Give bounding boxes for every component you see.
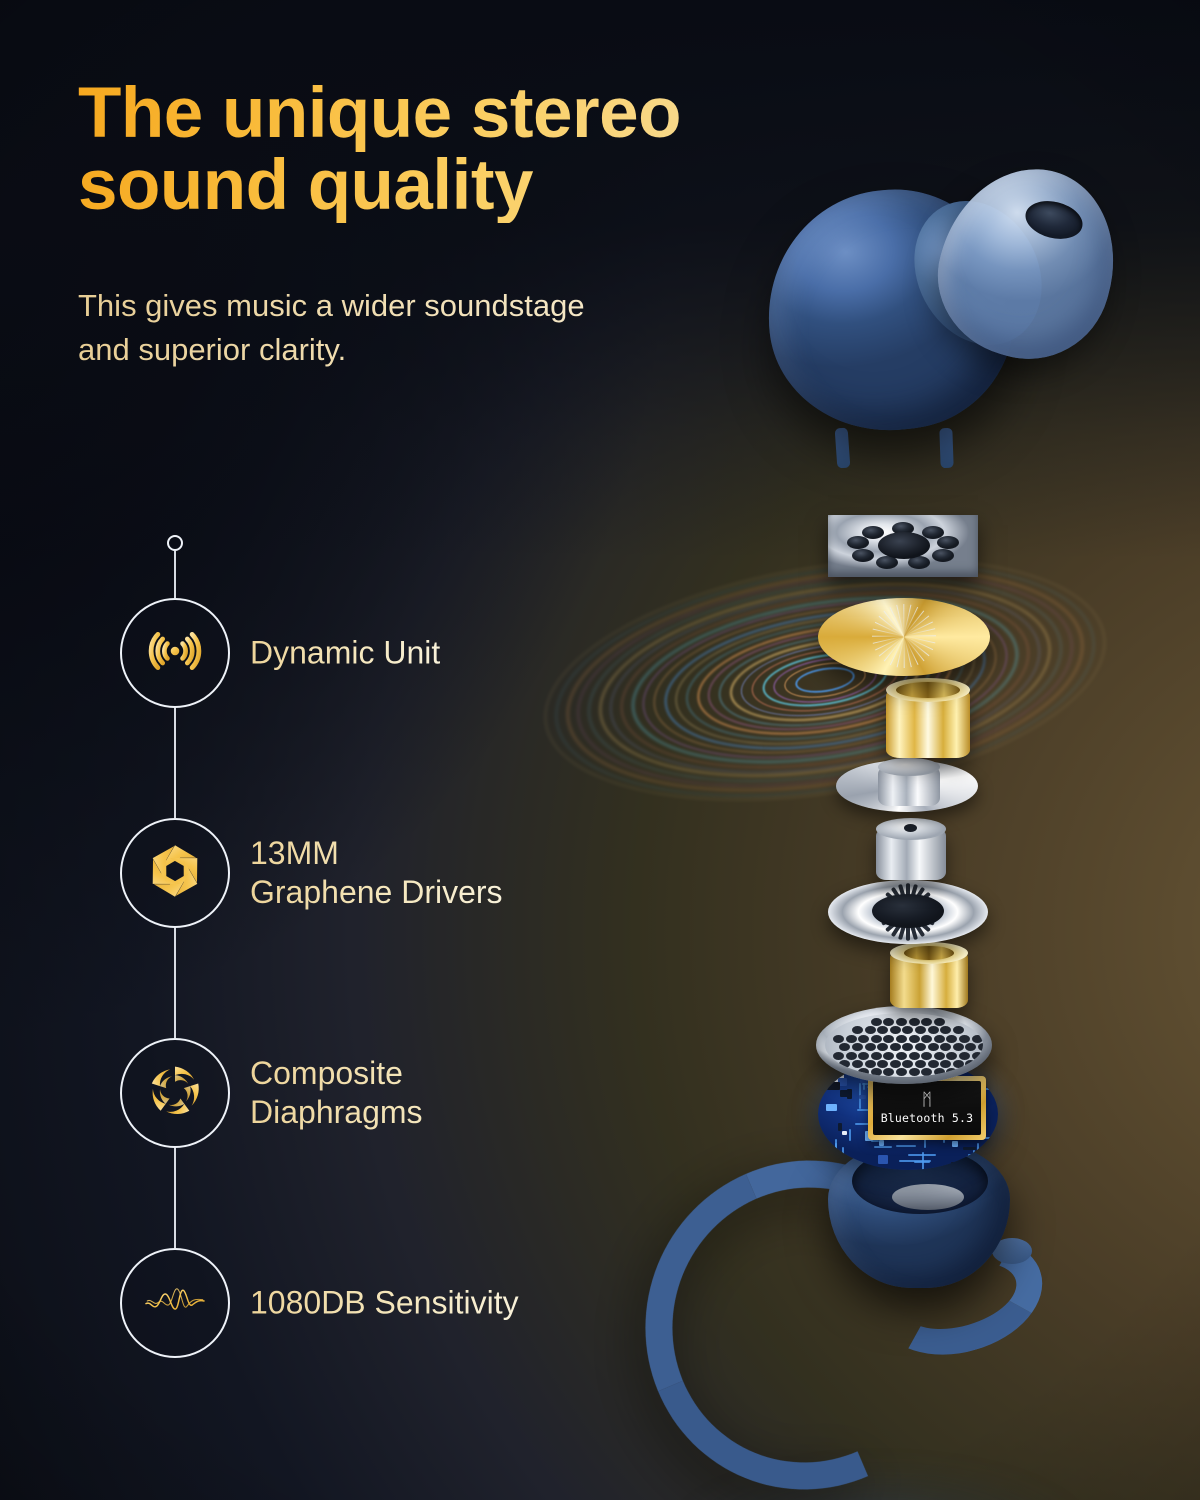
signal-waves-icon (142, 618, 208, 689)
feature-item-4[interactable]: 1080DB Sensitivity (120, 1248, 560, 1358)
aperture-icon (142, 838, 208, 909)
feature-icon-circle (120, 818, 230, 928)
infographic-stage: ᛗ Bluetooth 5.3 (0, 0, 1200, 1500)
timeline-connector-2 (174, 708, 176, 818)
timeline-connector-1 (174, 551, 176, 598)
feature-label: 13MM Graphene Drivers (250, 834, 503, 912)
timeline-start-pin (167, 535, 183, 551)
feature-item-1[interactable]: Dynamic Unit (120, 598, 560, 708)
swirl-icon (142, 1058, 208, 1129)
feature-icon-circle (120, 1038, 230, 1148)
feature-icon-circle (120, 1248, 230, 1358)
feature-item-3[interactable]: Composite Diaphragms (120, 1038, 560, 1148)
feature-timeline: Dynamic Unit13MM Graphene DriversComposi… (0, 0, 560, 1500)
feature-item-2[interactable]: 13MM Graphene Drivers (120, 818, 560, 928)
feature-label: Composite Diaphragms (250, 1054, 560, 1132)
feature-label: 1080DB Sensitivity (250, 1283, 519, 1322)
timeline-connector-3 (174, 928, 176, 1038)
waveform-icon (142, 1268, 208, 1339)
feature-label: Dynamic Unit (250, 633, 440, 672)
timeline-connector-4 (174, 1148, 176, 1248)
feature-icon-circle (120, 598, 230, 708)
